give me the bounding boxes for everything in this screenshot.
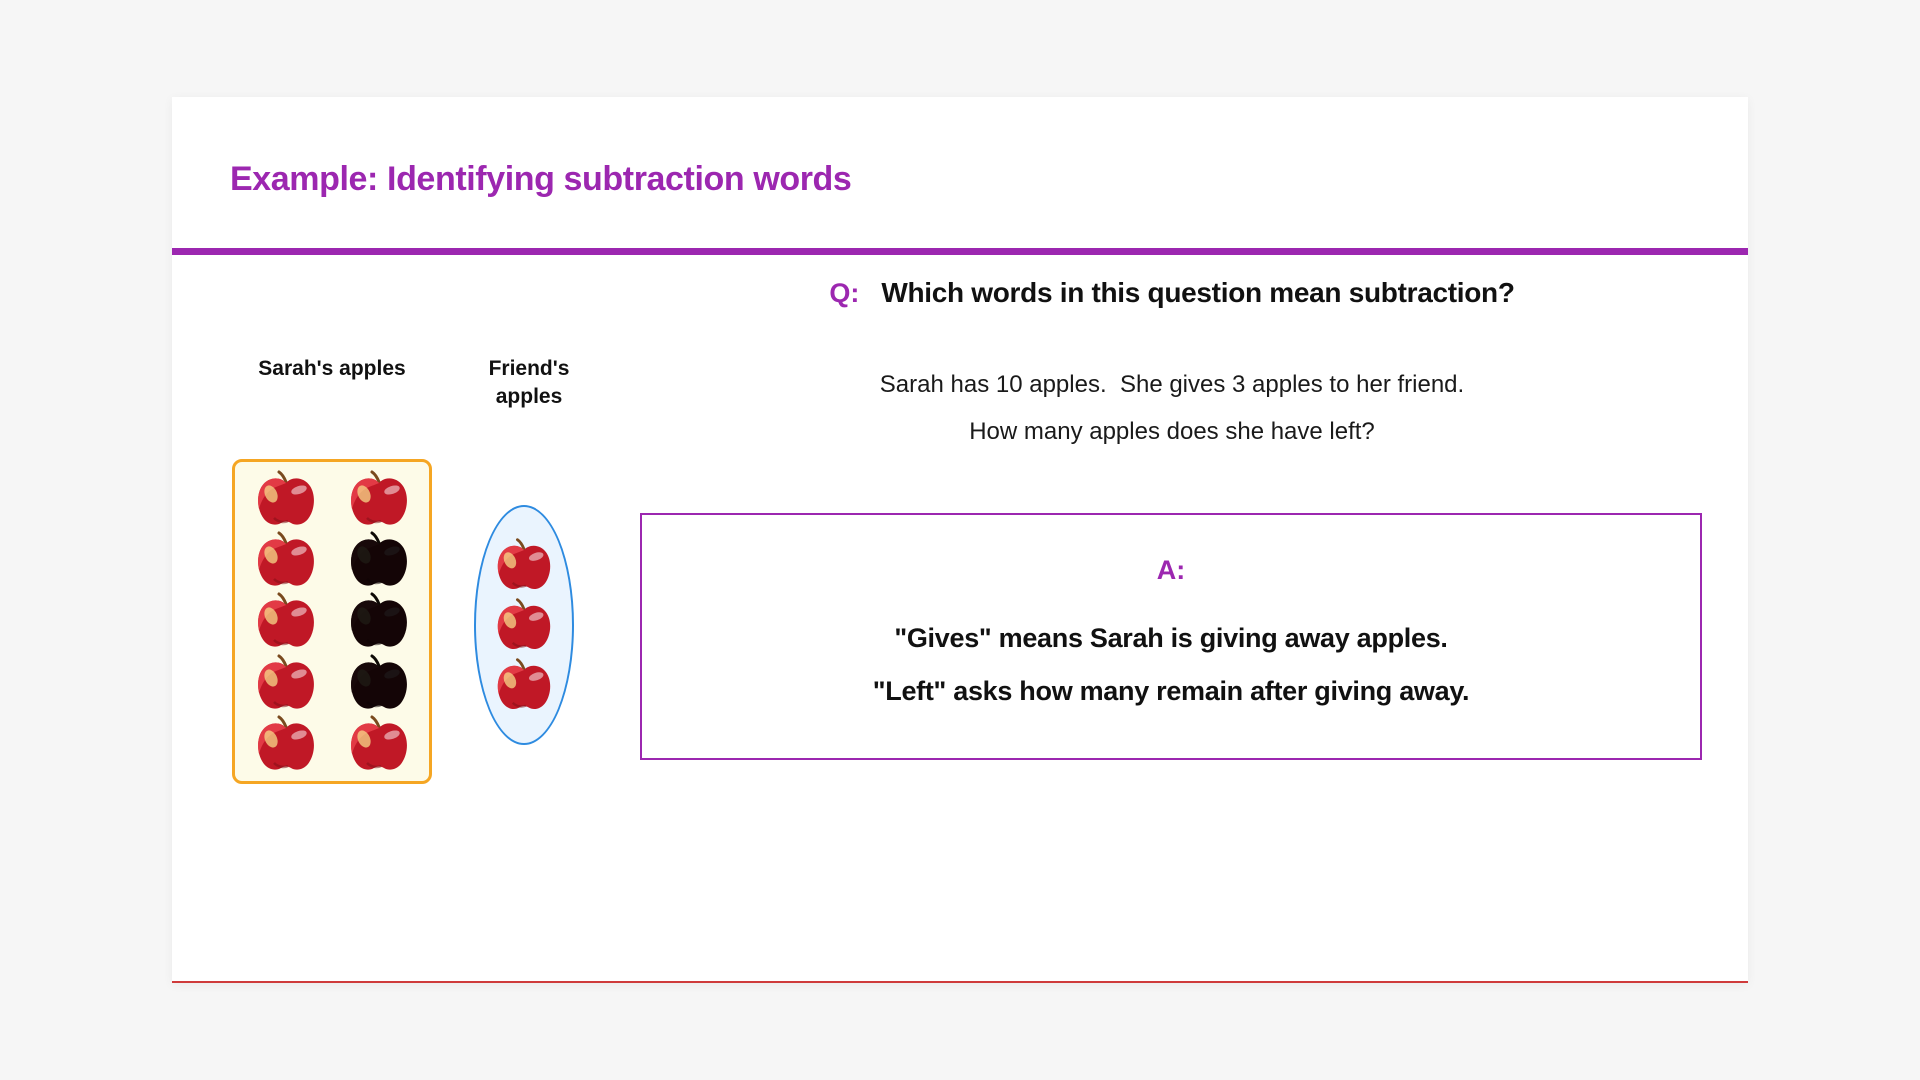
friend-group-label: Friend's apples xyxy=(464,355,594,412)
apple-icon xyxy=(254,715,318,773)
problem-statement-line1: Sarah has 10 apples. She gives 3 apples … xyxy=(672,362,1672,409)
apple-visual-panel: Sarah's apples Friend's apples xyxy=(192,255,612,981)
question-heading: Q: Which words in this question mean sub… xyxy=(612,277,1732,309)
apple-icon xyxy=(254,470,318,528)
answer-line-1: "Gives" means Sarah is giving away apple… xyxy=(894,612,1447,665)
card-bottom-rule xyxy=(172,981,1748,983)
question-text: Which words in this question mean subtra… xyxy=(881,277,1514,309)
apple-icon xyxy=(494,537,554,593)
question-answer-panel: Q: Which words in this question mean sub… xyxy=(612,255,1732,981)
apple-icon xyxy=(494,657,554,713)
page-title: Example: Identifying subtraction words xyxy=(230,160,851,199)
apple-icon xyxy=(254,654,318,712)
friend-group-label-line1: Friend's xyxy=(489,357,570,380)
apple-icon xyxy=(254,592,318,650)
friend-apple-oval xyxy=(474,505,574,745)
apple-icon xyxy=(494,597,554,653)
sarah-apple-box xyxy=(232,459,432,784)
apple-given-away-icon xyxy=(347,531,411,589)
slide-card: Example: Identifying subtraction words S… xyxy=(172,97,1748,983)
apple-icon xyxy=(254,531,318,589)
slide-root: Example: Identifying subtraction words S… xyxy=(0,0,1920,1080)
question-marker: Q: xyxy=(829,278,859,309)
answer-line-2: "Left" asks how many remain after giving… xyxy=(873,665,1470,718)
title-divider xyxy=(172,248,1748,255)
friend-group-label-line2: apples xyxy=(496,385,563,408)
problem-statement: Sarah has 10 apples. She gives 3 apples … xyxy=(672,362,1672,456)
problem-statement-line2: How many apples does she have left? xyxy=(672,409,1672,456)
answer-marker: A: xyxy=(1157,555,1186,586)
answer-box: A: "Gives" means Sarah is giving away ap… xyxy=(640,513,1702,760)
slide-body: Sarah's apples Friend's apples xyxy=(172,255,1748,981)
apple-icon xyxy=(347,470,411,528)
apple-given-away-icon xyxy=(347,592,411,650)
apple-icon xyxy=(347,715,411,773)
sarah-group-label: Sarah's apples xyxy=(202,355,462,383)
apple-given-away-icon xyxy=(347,654,411,712)
